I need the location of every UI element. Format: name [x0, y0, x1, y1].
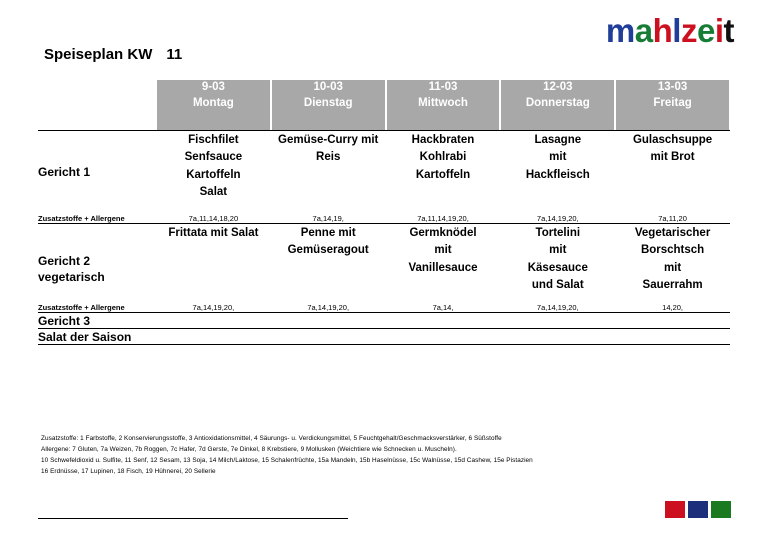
row-label-text: Gericht 2 vegetarisch — [38, 225, 156, 285]
color-swatches — [665, 501, 731, 518]
page-title: Speiseplan KW11 — [44, 46, 182, 63]
menu-table: 9-03 Montag 10-03 Dienstag 11-03 Mittwoc… — [38, 80, 731, 346]
legend-line-allergene-end: 16 Erdnüsse, 17 Lupinen, 18 Fisch, 19 Hü… — [41, 466, 681, 477]
logo-letter-m-0: m — [606, 14, 635, 47]
gericht1-row: Gericht 1 Fischfilet Senfsauce Kartoffel… — [38, 132, 730, 214]
dish-gericht1-freitag: Gulaschsuppe mit Brot — [615, 132, 730, 214]
dish-gericht2-freitag: Vegetarischer Borschtsch mit Sauerrahm — [615, 225, 730, 303]
logo-letter-z-4: z — [681, 14, 697, 47]
logo-letter-h-2: h — [653, 14, 673, 47]
day-name: Donnerstag — [501, 96, 614, 112]
row-label-gericht1: Gericht 1 — [38, 132, 156, 214]
allergen-gericht2-montag: 7a,14,19,20, — [156, 303, 271, 312]
allergen-gericht2-mittwoch: 7a,14, — [386, 303, 501, 312]
dish-gericht1-montag: Fischfilet Senfsauce Kartoffeln Salat — [156, 132, 271, 214]
day-header-freitag: 13-03 Freitag — [615, 80, 730, 130]
allergen-gericht2-dienstag: 7a,14,19,20, — [271, 303, 386, 312]
dish-gericht1-mittwoch: Hackbraten Kohlrabi Kartoffeln — [386, 132, 501, 214]
footer-divider — [38, 518, 348, 519]
day-name: Montag — [157, 96, 270, 112]
day-name: Mittwoch — [387, 96, 500, 112]
day-date: 11-03 — [387, 80, 500, 96]
gericht2-row: Gericht 2 vegetarisch Frittata mit Salat… — [38, 225, 730, 303]
gericht1-allergen-row: Zusatzstoffe + Allergene 7a,11,14,18,20 … — [38, 214, 730, 223]
legend: Zusatzstoffe: 1 Farbstoffe, 2 Konservier… — [41, 433, 681, 477]
dish-gericht1-dienstag: Gemüse-Curry mit Reis — [271, 132, 386, 214]
color-swatch-1 — [688, 501, 708, 518]
row-label-gericht3: Gericht 3 — [38, 314, 730, 328]
legend-line-allergene: Allergene: 7 Gluten, 7a Weizen, 7b Rogge… — [41, 444, 681, 455]
dish-gericht1-donnerstag: Lasagne mit Hackfleisch — [500, 132, 615, 214]
row-label-text: Gericht 1 — [38, 132, 156, 180]
day-header-dienstag: 10-03 Dienstag — [271, 80, 386, 130]
salat-row: Salat der Saison — [38, 330, 730, 344]
day-header-row: 9-03 Montag 10-03 Dienstag 11-03 Mittwoc… — [38, 80, 730, 130]
logo-letter-t-7: t — [724, 14, 735, 47]
legend-line-zusatzstoffe: Zusatzstoffe: 1 Farbstoffe, 2 Konservier… — [41, 433, 681, 444]
dish-gericht2-montag: Frittata mit Salat — [156, 225, 271, 303]
dish-gericht2-dienstag: Penne mit Gemüseragout — [271, 225, 386, 303]
allergen-gericht1-donnerstag: 7a,14,19,20, — [500, 214, 615, 223]
logo-letter-a-1: a — [635, 14, 653, 47]
allergen-gericht1-mittwoch: 7a,11,14,19,20, — [386, 214, 501, 223]
day-date: 12-03 — [501, 80, 614, 96]
day-header-montag: 9-03 Montag — [156, 80, 271, 130]
logo-letter-e-5: e — [697, 14, 715, 47]
header-spacer — [38, 80, 156, 130]
gericht2-allergen-row: Zusatzstoffe + Allergene 7a,14,19,20, 7a… — [38, 303, 730, 312]
speiseplan-page: mahlzeit Speiseplan KW11 9-03 Montag 10-… — [0, 0, 768, 543]
week-number: 11 — [166, 46, 182, 63]
allergen-gericht2-freitag: 14,20, — [615, 303, 730, 312]
allergen-gericht1-freitag: 7a,11,20 — [615, 214, 730, 223]
day-date: 10-03 — [272, 80, 385, 96]
allergen-label-gericht1: Zusatzstoffe + Allergene — [38, 214, 156, 223]
row-label-salat: Salat der Saison — [38, 330, 730, 344]
logo-letter-i-6: i — [715, 14, 724, 47]
dish-gericht2-mittwoch: Germknödel mit Vanillesauce — [386, 225, 501, 303]
row-label-gericht2: Gericht 2 vegetarisch — [38, 225, 156, 303]
legend-line-allergene-continued: 10 Schwefeldioxid u. Sulfite, 11 Senf, 1… — [41, 455, 681, 466]
day-header-donnerstag: 12-03 Donnerstag — [500, 80, 615, 130]
color-swatch-0 — [665, 501, 685, 518]
day-header-mittwoch: 11-03 Mittwoch — [386, 80, 501, 130]
page-title-text: Speiseplan KW — [44, 46, 152, 63]
dish-gericht2-donnerstag: Tortelini mit Käsesauce und Salat — [500, 225, 615, 303]
gericht3-row: Gericht 3 — [38, 314, 730, 328]
logo-letter-l-3: l — [672, 14, 681, 47]
color-swatch-2 — [711, 501, 731, 518]
allergen-gericht1-dienstag: 7a,14,19, — [271, 214, 386, 223]
allergen-label-gericht2: Zusatzstoffe + Allergene — [38, 303, 156, 312]
day-date: 13-03 — [616, 80, 729, 96]
divider — [38, 344, 730, 346]
divider-row — [38, 344, 730, 346]
day-date: 9-03 — [157, 80, 270, 96]
mahlzeit-logo: mahlzeit — [606, 14, 734, 47]
allergen-gericht2-donnerstag: 7a,14,19,20, — [500, 303, 615, 312]
day-name: Freitag — [616, 96, 729, 112]
day-name: Dienstag — [272, 96, 385, 112]
allergen-gericht1-montag: 7a,11,14,18,20 — [156, 214, 271, 223]
